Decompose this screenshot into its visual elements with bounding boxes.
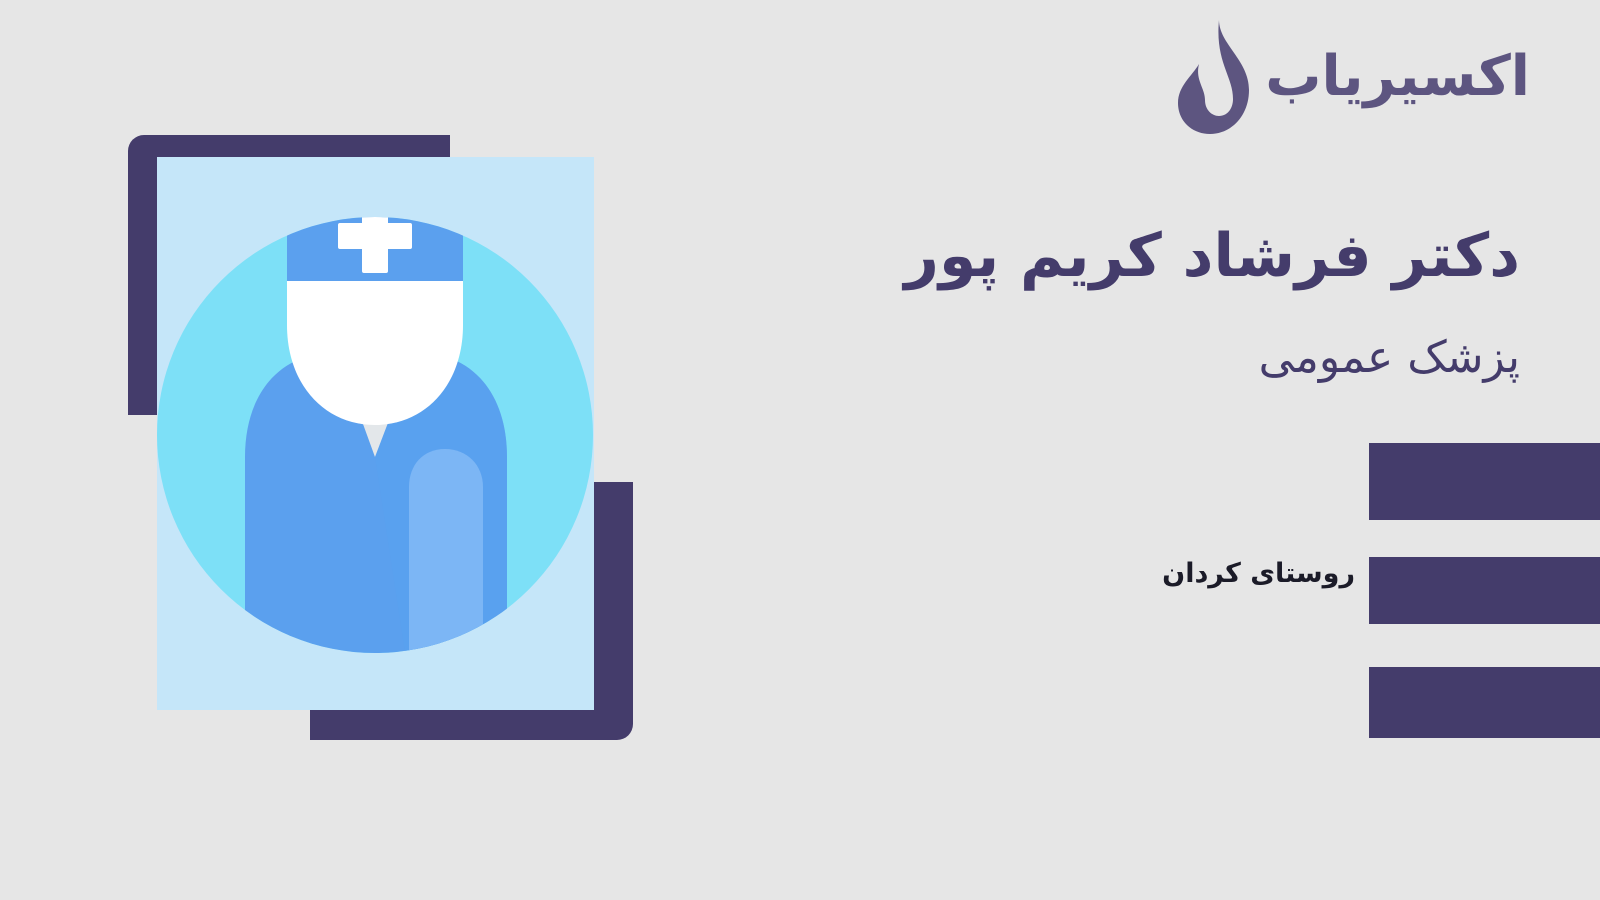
flame-drop-icon — [1175, 18, 1251, 136]
doctor-avatar-icon — [157, 157, 594, 710]
doctor-location: روستای کردان — [1162, 558, 1355, 590]
doctor-illustration — [128, 135, 633, 740]
doctor-name: دکتر فرشاد کریم پور — [700, 222, 1520, 291]
profile-card-canvas: اکسیریاب دکتر فرشاد کریم پور پزشک عمومی … — [0, 0, 1600, 900]
decor-bar-2 — [1369, 557, 1600, 624]
decor-bar-1 — [1369, 443, 1600, 520]
decor-bar-3 — [1369, 667, 1600, 738]
brand-name: اکسیریاب — [1265, 49, 1530, 105]
brand-logo[interactable]: اکسیریاب — [1175, 18, 1530, 136]
doctor-specialty: پزشک عمومی — [700, 332, 1520, 385]
